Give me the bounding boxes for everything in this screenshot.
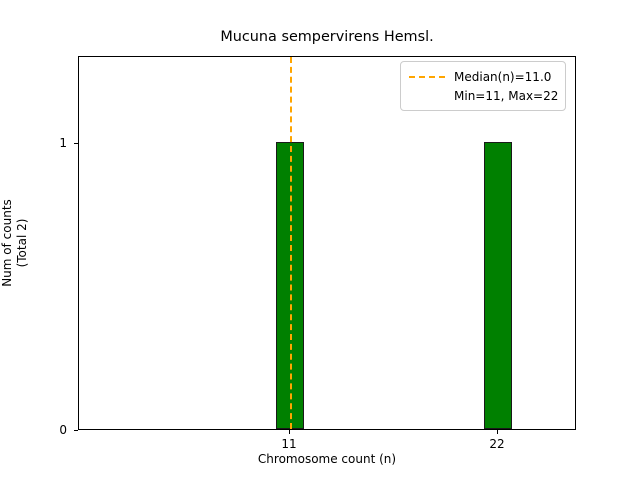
x-axis-label: Chromosome count (n) <box>78 452 576 467</box>
bar-22 <box>484 142 512 429</box>
x-tick-mark-11 <box>289 430 290 434</box>
x-tick-label-22: 22 <box>467 437 527 451</box>
plot-area <box>78 56 576 430</box>
x-tick-mark-22 <box>497 430 498 434</box>
y-axis-label: Num of counts (Total 2) <box>0 56 34 430</box>
chart-legend: Median(n)=11.0 Min=11, Max=22 <box>400 61 566 111</box>
chart-title: Mucuna sempervirens Hemsl. <box>78 28 576 46</box>
y-tick-label-0: 0 <box>59 424 67 436</box>
y-tick-label-1: 1 <box>59 137 67 149</box>
legend-label-median: Median(n)=11.0 <box>454 70 551 84</box>
x-tick-label-11: 11 <box>259 437 319 451</box>
dashed-line-icon <box>409 70 445 84</box>
legend-label-minmax: Min=11, Max=22 <box>454 89 558 103</box>
y-tick-mark-0 <box>74 430 78 431</box>
chart-figure: Mucuna sempervirens Hemsl. Num of counts… <box>0 0 640 480</box>
median-line <box>290 57 292 429</box>
legend-swatch-blank <box>409 89 445 103</box>
legend-entry-minmax: Min=11, Max=22 <box>409 86 558 105</box>
legend-entry-median: Median(n)=11.0 <box>409 67 558 86</box>
